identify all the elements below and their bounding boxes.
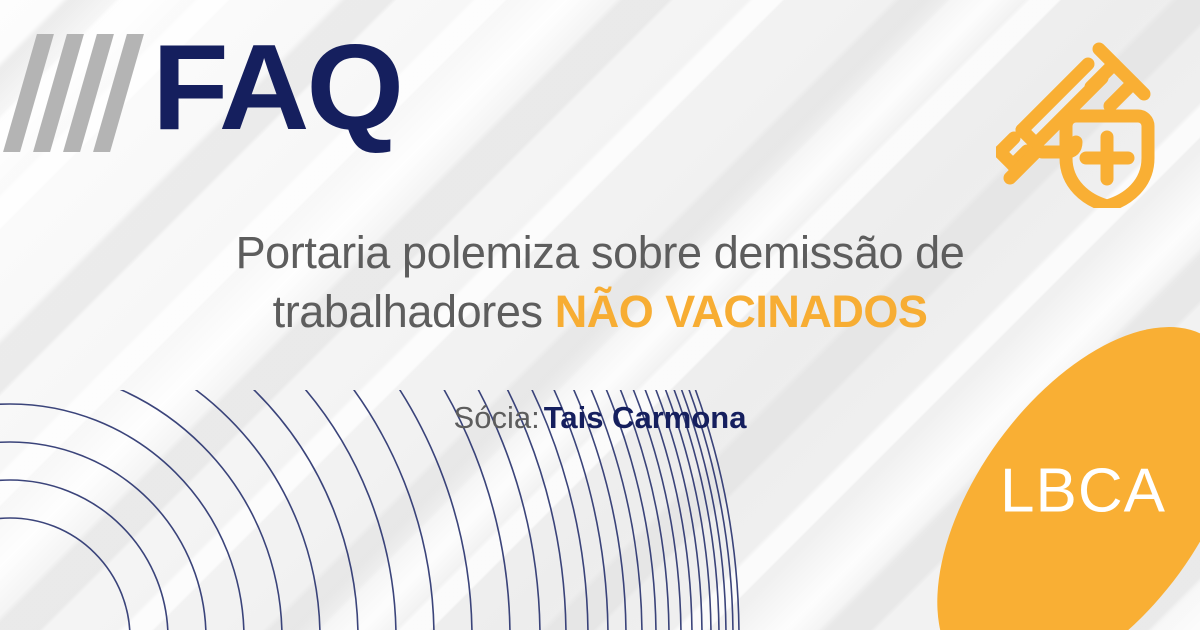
faq-social-card: FAQ	[0, 0, 1200, 630]
slanted-bars-icon	[20, 34, 140, 152]
headline-line-2: trabalhadores NÃO VACINADOS	[140, 283, 1060, 341]
faq-label: FAQ	[152, 28, 401, 148]
headline-line-1: Portaria polemiza sobre demissão de	[140, 224, 1060, 282]
syringe-shield-plus-icon	[996, 32, 1158, 208]
lbca-ellipse-shape	[877, 274, 1200, 630]
byline-name: Tais Carmona	[544, 400, 747, 435]
headline-emphasis: NÃO VACINADOS	[555, 286, 928, 337]
lbca-logo: LBCA	[924, 292, 1200, 630]
faq-badge: FAQ	[20, 28, 394, 152]
lbca-logo-text: LBCA	[1000, 456, 1166, 527]
byline-role-label: Sócia:	[454, 400, 540, 435]
headline-line-2-prefix: trabalhadores	[273, 286, 543, 337]
